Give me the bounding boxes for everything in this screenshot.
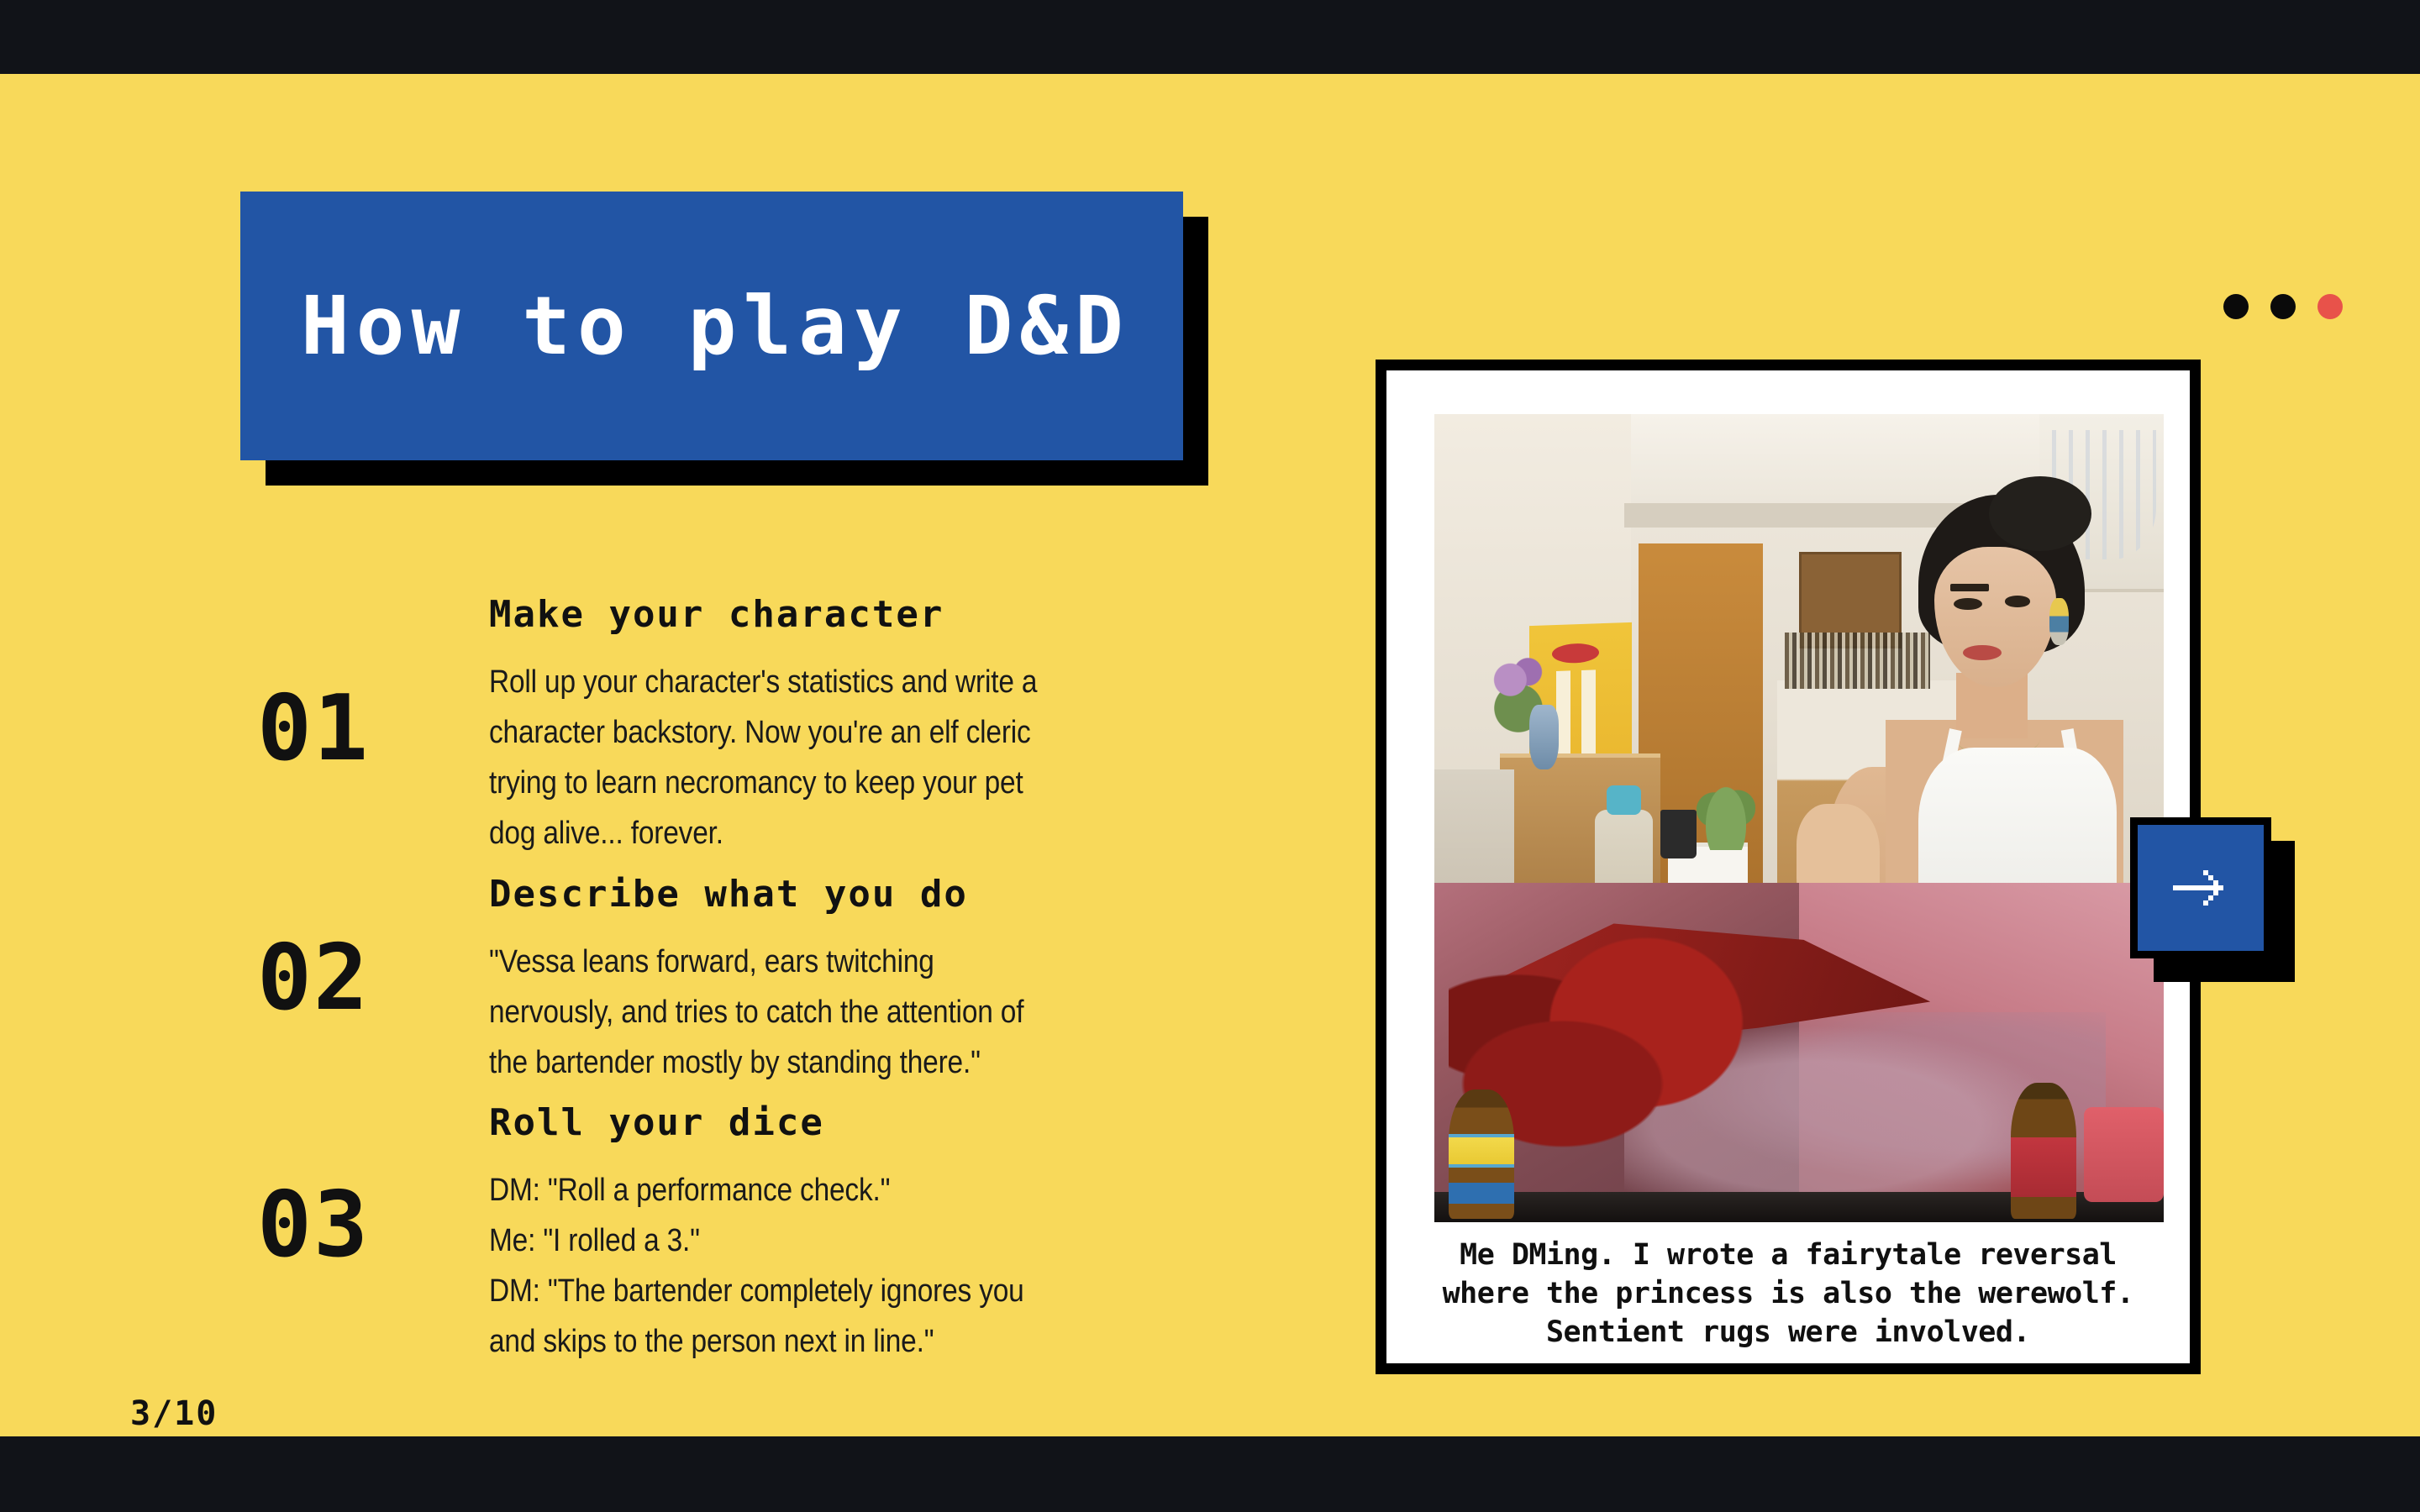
- next-slide-button[interactable]: [2130, 817, 2271, 958]
- step-heading: Describe what you do: [489, 874, 1227, 915]
- step-body: Describe what you do "Vessa leans forwar…: [489, 874, 1227, 1088]
- step-number-column: 01: [252, 595, 489, 774]
- photo-image: [1434, 414, 2164, 1222]
- dot-2-icon[interactable]: [2270, 294, 2296, 319]
- list-item: 02 Describe what you do "Vessa leans for…: [252, 874, 1227, 1088]
- step-paragraph: DM: "Roll a performance check." Me: "I r…: [489, 1165, 1125, 1367]
- step-line: "Vessa leans forward, ears twitching: [489, 937, 1125, 987]
- step-line: nervously, and tries to catch the attent…: [489, 987, 1125, 1037]
- step-heading: Make your character: [489, 595, 1227, 635]
- step-paragraph: "Vessa leans forward, ears twitching ner…: [489, 937, 1125, 1088]
- step-number: 03: [257, 1180, 370, 1271]
- step-line: DM: "Roll a performance check.": [489, 1165, 1125, 1215]
- photo-card: Me DMing. I wrote a fairytale reversal w…: [1376, 360, 2201, 1374]
- slide-stage: How to play D&D 01 Make your character R…: [0, 74, 2420, 1436]
- dot-3-icon[interactable]: [2317, 294, 2343, 319]
- step-line: character backstory. Now you're an elf c…: [489, 707, 1125, 758]
- list-item: 01 Make your character Roll up your char…: [252, 595, 1227, 859]
- steps-list: 01 Make your character Roll up your char…: [252, 595, 1227, 1389]
- step-line: trying to learn necromancy to keep your …: [489, 758, 1125, 808]
- title-box: How to play D&D: [240, 192, 1183, 460]
- letterbox-top: [0, 0, 2420, 74]
- step-line: and skips to the person next in line.": [489, 1316, 1125, 1367]
- dm-screen: [1434, 883, 2164, 1222]
- step-line: DM: "The bartender completely ignores yo…: [489, 1266, 1125, 1316]
- step-heading: Roll your dice: [489, 1103, 1227, 1143]
- caption-line: where the princess is also the werewolf.: [1386, 1274, 2190, 1313]
- letterbox-bottom: [0, 1436, 2420, 1512]
- photo-scene: [1434, 414, 2164, 1222]
- list-item: 03 Roll your dice DM: "Roll a performanc…: [252, 1103, 1227, 1368]
- step-line: Roll up your character's statistics and …: [489, 657, 1125, 707]
- caption-line: Sentient rugs were involved.: [1386, 1313, 2190, 1352]
- step-number: 02: [257, 933, 370, 1024]
- slide-title-block: How to play D&D: [240, 192, 1183, 460]
- step-number: 01: [257, 684, 370, 774]
- step-body: Make your character Roll up your charact…: [489, 595, 1227, 859]
- slide-root: How to play D&D 01 Make your character R…: [0, 0, 2420, 1512]
- page-title: How to play D&D: [301, 286, 1130, 366]
- step-line: the bartender mostly by standing there.": [489, 1037, 1125, 1088]
- step-number-column: 02: [252, 874, 489, 1024]
- carousel-dots: [2223, 294, 2343, 319]
- step-line: Me: "I rolled a 3.": [489, 1215, 1125, 1266]
- dot-1-icon[interactable]: [2223, 294, 2249, 319]
- step-line: dog alive... forever.: [489, 808, 1125, 858]
- step-number-column: 03: [252, 1103, 489, 1271]
- step-paragraph: Roll up your character's statistics and …: [489, 657, 1125, 858]
- caption-line: Me DMing. I wrote a fairytale reversal: [1386, 1236, 2190, 1274]
- page-indicator: 3/10: [130, 1394, 218, 1433]
- step-body: Roll your dice DM: "Roll a performance c…: [489, 1103, 1227, 1368]
- photo-caption: Me DMing. I wrote a fairytale reversal w…: [1386, 1236, 2190, 1352]
- next-slide-button-wrap: [2130, 817, 2271, 958]
- arrow-right-icon: [2168, 855, 2233, 921]
